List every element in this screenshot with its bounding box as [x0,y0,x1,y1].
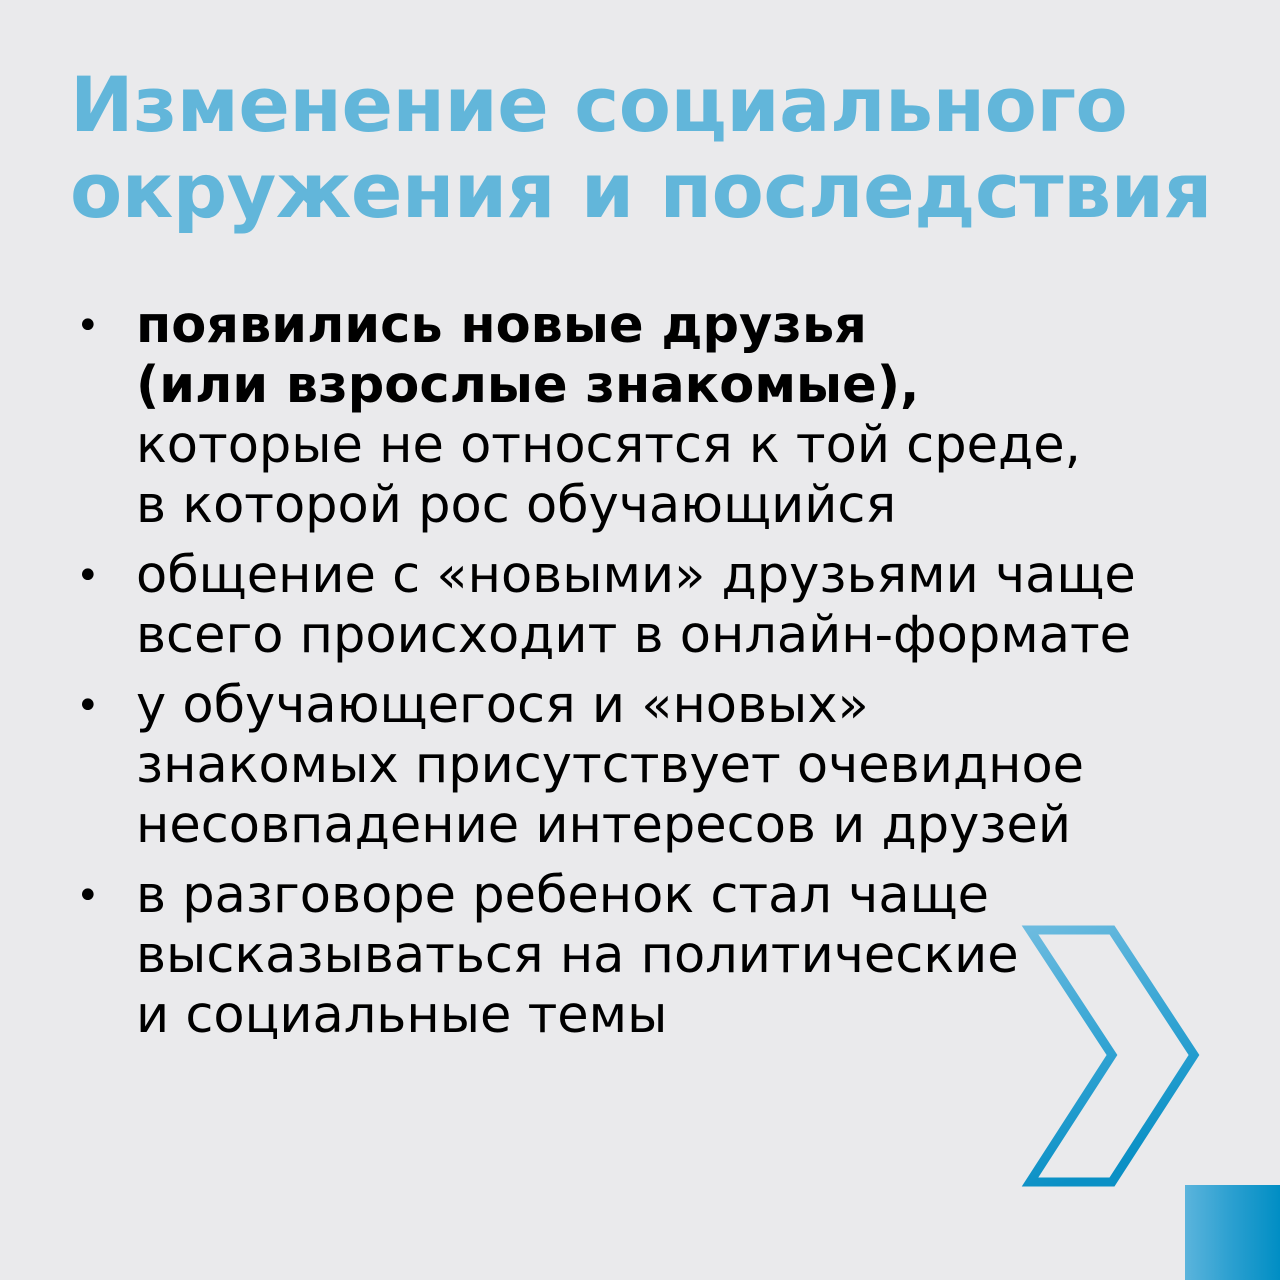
bullet-marker-icon: • [76,296,96,356]
list-item: • общение с «новыми» друзьями чаще всего… [62,546,1222,666]
list-item: • у обучающегося и «новых» знакомых прис… [62,676,1222,856]
list-item-text: в разговоре ребенок стал чаще высказыват… [136,866,1222,1046]
bullet-marker-icon: • [76,676,96,736]
list-item: • в разговоре ребенок стал чаще высказыв… [62,866,1222,1046]
list-item-text: которые не относятся к той среде, в кото… [136,416,1222,536]
bullet-list: • появились новые друзья (или взрослые з… [62,296,1222,1056]
bullet-marker-icon: • [76,546,96,606]
list-item-text: у обучающегося и «новых» знакомых присут… [136,676,1222,856]
page-title: Изменение социального окружения и послед… [70,62,1230,234]
list-item-bold-text: появились новые друзья (или взрослые зна… [136,296,1222,416]
list-item-text: общение с «новыми» друзьями чаще всего п… [136,546,1222,666]
bullet-marker-icon: • [76,866,96,926]
corner-accent-block [1185,1185,1280,1280]
slide-canvas: Изменение социального окружения и послед… [0,0,1280,1280]
list-item: • появились новые друзья (или взрослые з… [62,296,1222,536]
